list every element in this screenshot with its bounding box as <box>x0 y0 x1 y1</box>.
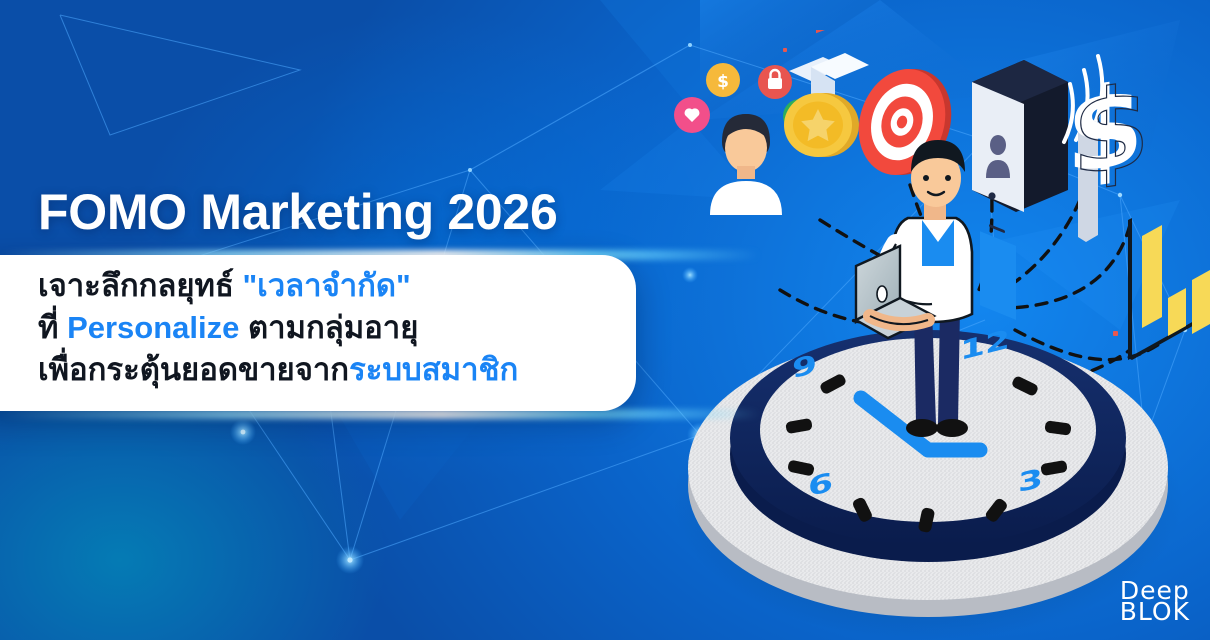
bar-chart-icon <box>1128 218 1210 360</box>
dollar-sign-icon: $ $ <box>1066 58 1150 242</box>
subheadline-line-3-dark: เพื่อกระตุ้นยอดขายจาก <box>38 352 349 387</box>
subheadline-line-1: เจาะลึกกลยุทธ์ "เวลาจำกัด" <box>38 265 636 307</box>
page-title: FOMO Marketing 2026 <box>38 183 557 241</box>
subheadline-line-2-dark-b: ตามกลุ่มอายุ <box>239 310 418 345</box>
clock-number-9: 9 <box>792 348 817 384</box>
subheadline-line-3-highlight: ระบบสมาชิก <box>349 352 518 387</box>
hero-illustration: $ <box>660 30 1210 640</box>
brand-logo-line-2: BLOK <box>1120 599 1190 624</box>
medal-star-icon <box>784 30 869 157</box>
svg-text:$: $ <box>1072 61 1150 202</box>
brand-logo: Deep BLOK <box>1120 578 1190 624</box>
banner-canvas: $ <box>0 0 1210 640</box>
clock-number-3: 3 <box>1018 462 1043 498</box>
subheadline-line-2: ที่ Personalize ตามกลุ่มอายุ <box>38 307 636 349</box>
subheadline-line-1-highlight: "เวลาจำกัด" <box>242 268 410 303</box>
subheadline-line-1-dark: เจาะลึกกลยุทธ์ <box>38 268 242 303</box>
subheadline-card: เจาะลึกกลยุทธ์ "เวลาจำกัด" ที่ Personali… <box>0 255 636 411</box>
clock-number-6: 6 <box>808 466 833 502</box>
subheadline-line-3: เพื่อกระตุ้นยอดขายจากระบบสมาชิก <box>38 349 636 391</box>
subheadline-line-2-highlight: Personalize <box>67 310 239 345</box>
svg-text:$: $ <box>717 72 729 92</box>
subheadline-line-2-dark-a: ที่ <box>38 310 67 345</box>
